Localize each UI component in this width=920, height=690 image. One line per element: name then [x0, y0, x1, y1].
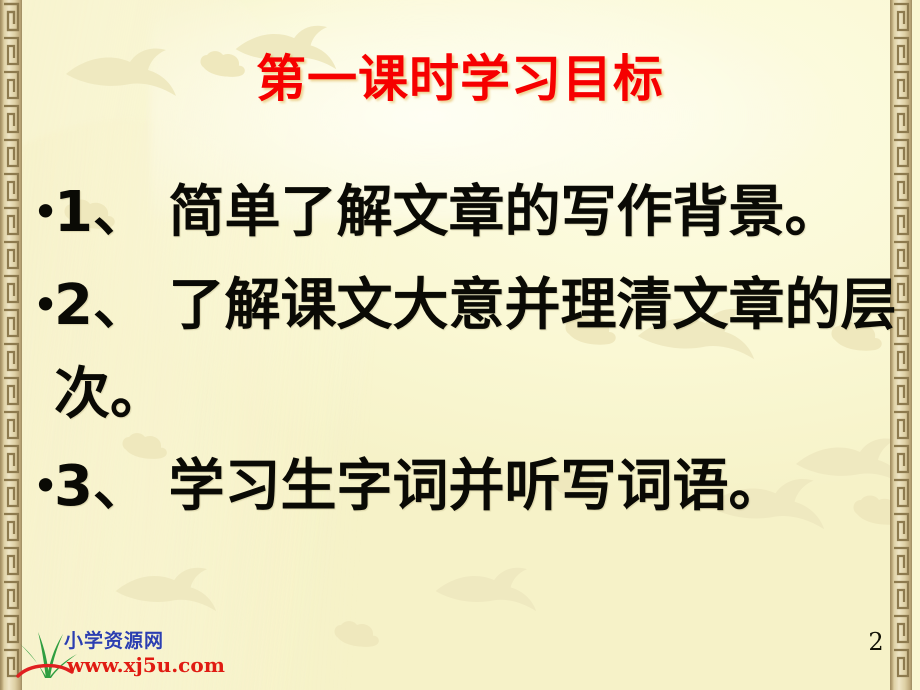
- watermark-logo: 小学资源网 www.xj5u.com: [16, 626, 246, 688]
- bullet-dot-icon: •: [32, 168, 54, 256]
- list-item: • 2、 了解课文大意并理清文章的层次。: [26, 261, 898, 438]
- page-number: 2: [862, 628, 890, 656]
- list-item-body: 了解课文大意并理清文章的层次。: [54, 272, 896, 427]
- watermark-site-url: www.xj5u.com: [67, 653, 225, 677]
- objectives-list: • 1、 简单了解文章的写作背景。 • 2、 了解课文大意并理清文章的层次。 •…: [26, 168, 898, 535]
- watermark-site-name: 小学资源网: [64, 630, 225, 652]
- list-item-number: 2、: [54, 273, 149, 338]
- bullet-dot-icon: •: [32, 442, 54, 530]
- bullet-dot-icon: •: [32, 261, 54, 349]
- list-item-text: 3、 学习生字词并听写词语。: [54, 442, 898, 531]
- slide-title: 第一课时学习目标: [0, 52, 920, 106]
- crane-motif-icon: [430, 560, 540, 624]
- list-item-number: 3、: [54, 454, 149, 519]
- list-item-text: 1、 简单了解文章的写作背景。: [54, 168, 898, 257]
- list-item: • 1、 简单了解文章的写作背景。: [26, 168, 898, 257]
- cloud-motif-icon: [330, 618, 384, 648]
- list-item-body: 学习生字词并听写词语。: [149, 453, 785, 519]
- list-item-number: 1、: [54, 180, 149, 245]
- list-item-body: 简单了解文章的写作背景。: [149, 179, 841, 245]
- list-item: • 3、 学习生字词并听写词语。: [26, 442, 898, 531]
- list-item-text: 2、 了解课文大意并理清文章的层次。: [54, 261, 898, 438]
- crane-motif-icon: [110, 560, 220, 624]
- presentation-slide: 第一课时学习目标 • 1、 简单了解文章的写作背景。 • 2、 了解课文大意并理…: [0, 0, 920, 690]
- watermark-text: 小学资源网 www.xj5u.com: [64, 630, 225, 677]
